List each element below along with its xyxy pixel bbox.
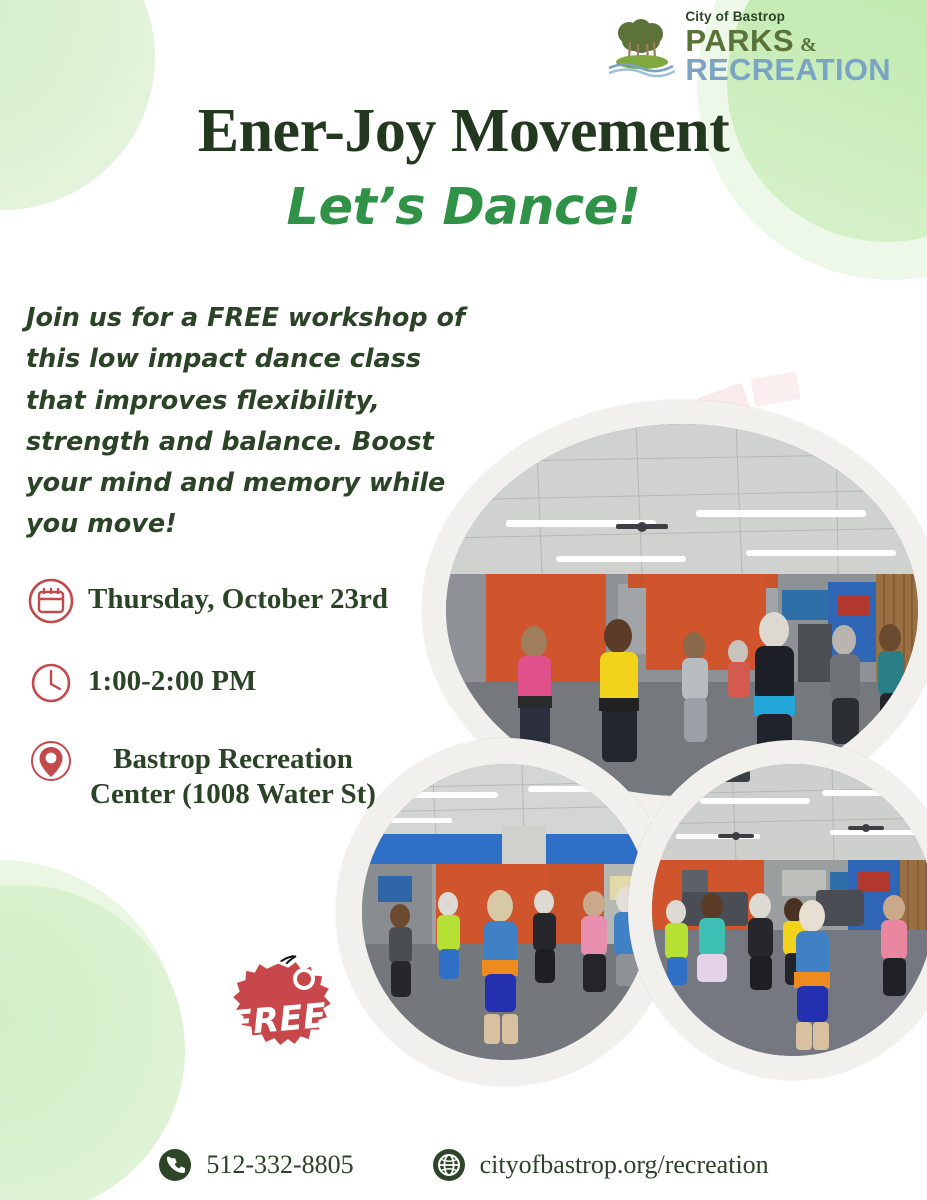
detail-row-location: Bastrop Recreation Center (1008 Water St… bbox=[28, 738, 388, 813]
footer-contact-bar: 512-332-8805 cityofbastrop.org/recreatio… bbox=[0, 1148, 927, 1182]
logo-recreation-word: RECREATION bbox=[685, 55, 891, 84]
location-pin-icon bbox=[28, 738, 74, 784]
logo-city-line: City of Bastrop bbox=[685, 10, 891, 24]
footer-website-text: cityofbastrop.org/recreation bbox=[480, 1150, 769, 1180]
calendar-icon bbox=[28, 578, 74, 624]
page-title: Ener-Joy Movement bbox=[0, 96, 927, 167]
photo-dance-class-lower-right bbox=[652, 764, 927, 1056]
parks-recreation-logo: City of Bastrop PARKS & RECREATION bbox=[607, 10, 891, 84]
page-subtitle: Let’s Dance! bbox=[0, 178, 927, 237]
photo-dance-class-lower-left bbox=[362, 764, 650, 1060]
phone-icon bbox=[158, 1148, 192, 1182]
footer-phone[interactable]: 512-332-8805 bbox=[158, 1148, 353, 1182]
free-badge: FREE bbox=[212, 952, 352, 1082]
globe-icon bbox=[432, 1148, 466, 1182]
clock-icon bbox=[28, 660, 74, 706]
photo-cluster bbox=[320, 400, 927, 1120]
event-details-list: Thursday, October 23rd 1:00-2:00 PM bbox=[28, 578, 388, 849]
detail-text-time: 1:00-2:00 PM bbox=[88, 660, 256, 699]
trees-heart-island-logo-icon bbox=[607, 16, 675, 78]
footer-phone-text: 512-332-8805 bbox=[206, 1150, 353, 1180]
detail-text-location: Bastrop Recreation Center (1008 Water St… bbox=[88, 738, 378, 813]
flyer-canvas: City of Bastrop PARKS & RECREATION Ener-… bbox=[0, 0, 927, 1200]
detail-row-time: 1:00-2:00 PM bbox=[28, 660, 388, 706]
logo-parks-word: PARKS bbox=[685, 26, 794, 55]
detail-row-date: Thursday, October 23rd bbox=[28, 578, 388, 624]
detail-text-date: Thursday, October 23rd bbox=[88, 578, 388, 617]
footer-website[interactable]: cityofbastrop.org/recreation bbox=[432, 1148, 769, 1182]
